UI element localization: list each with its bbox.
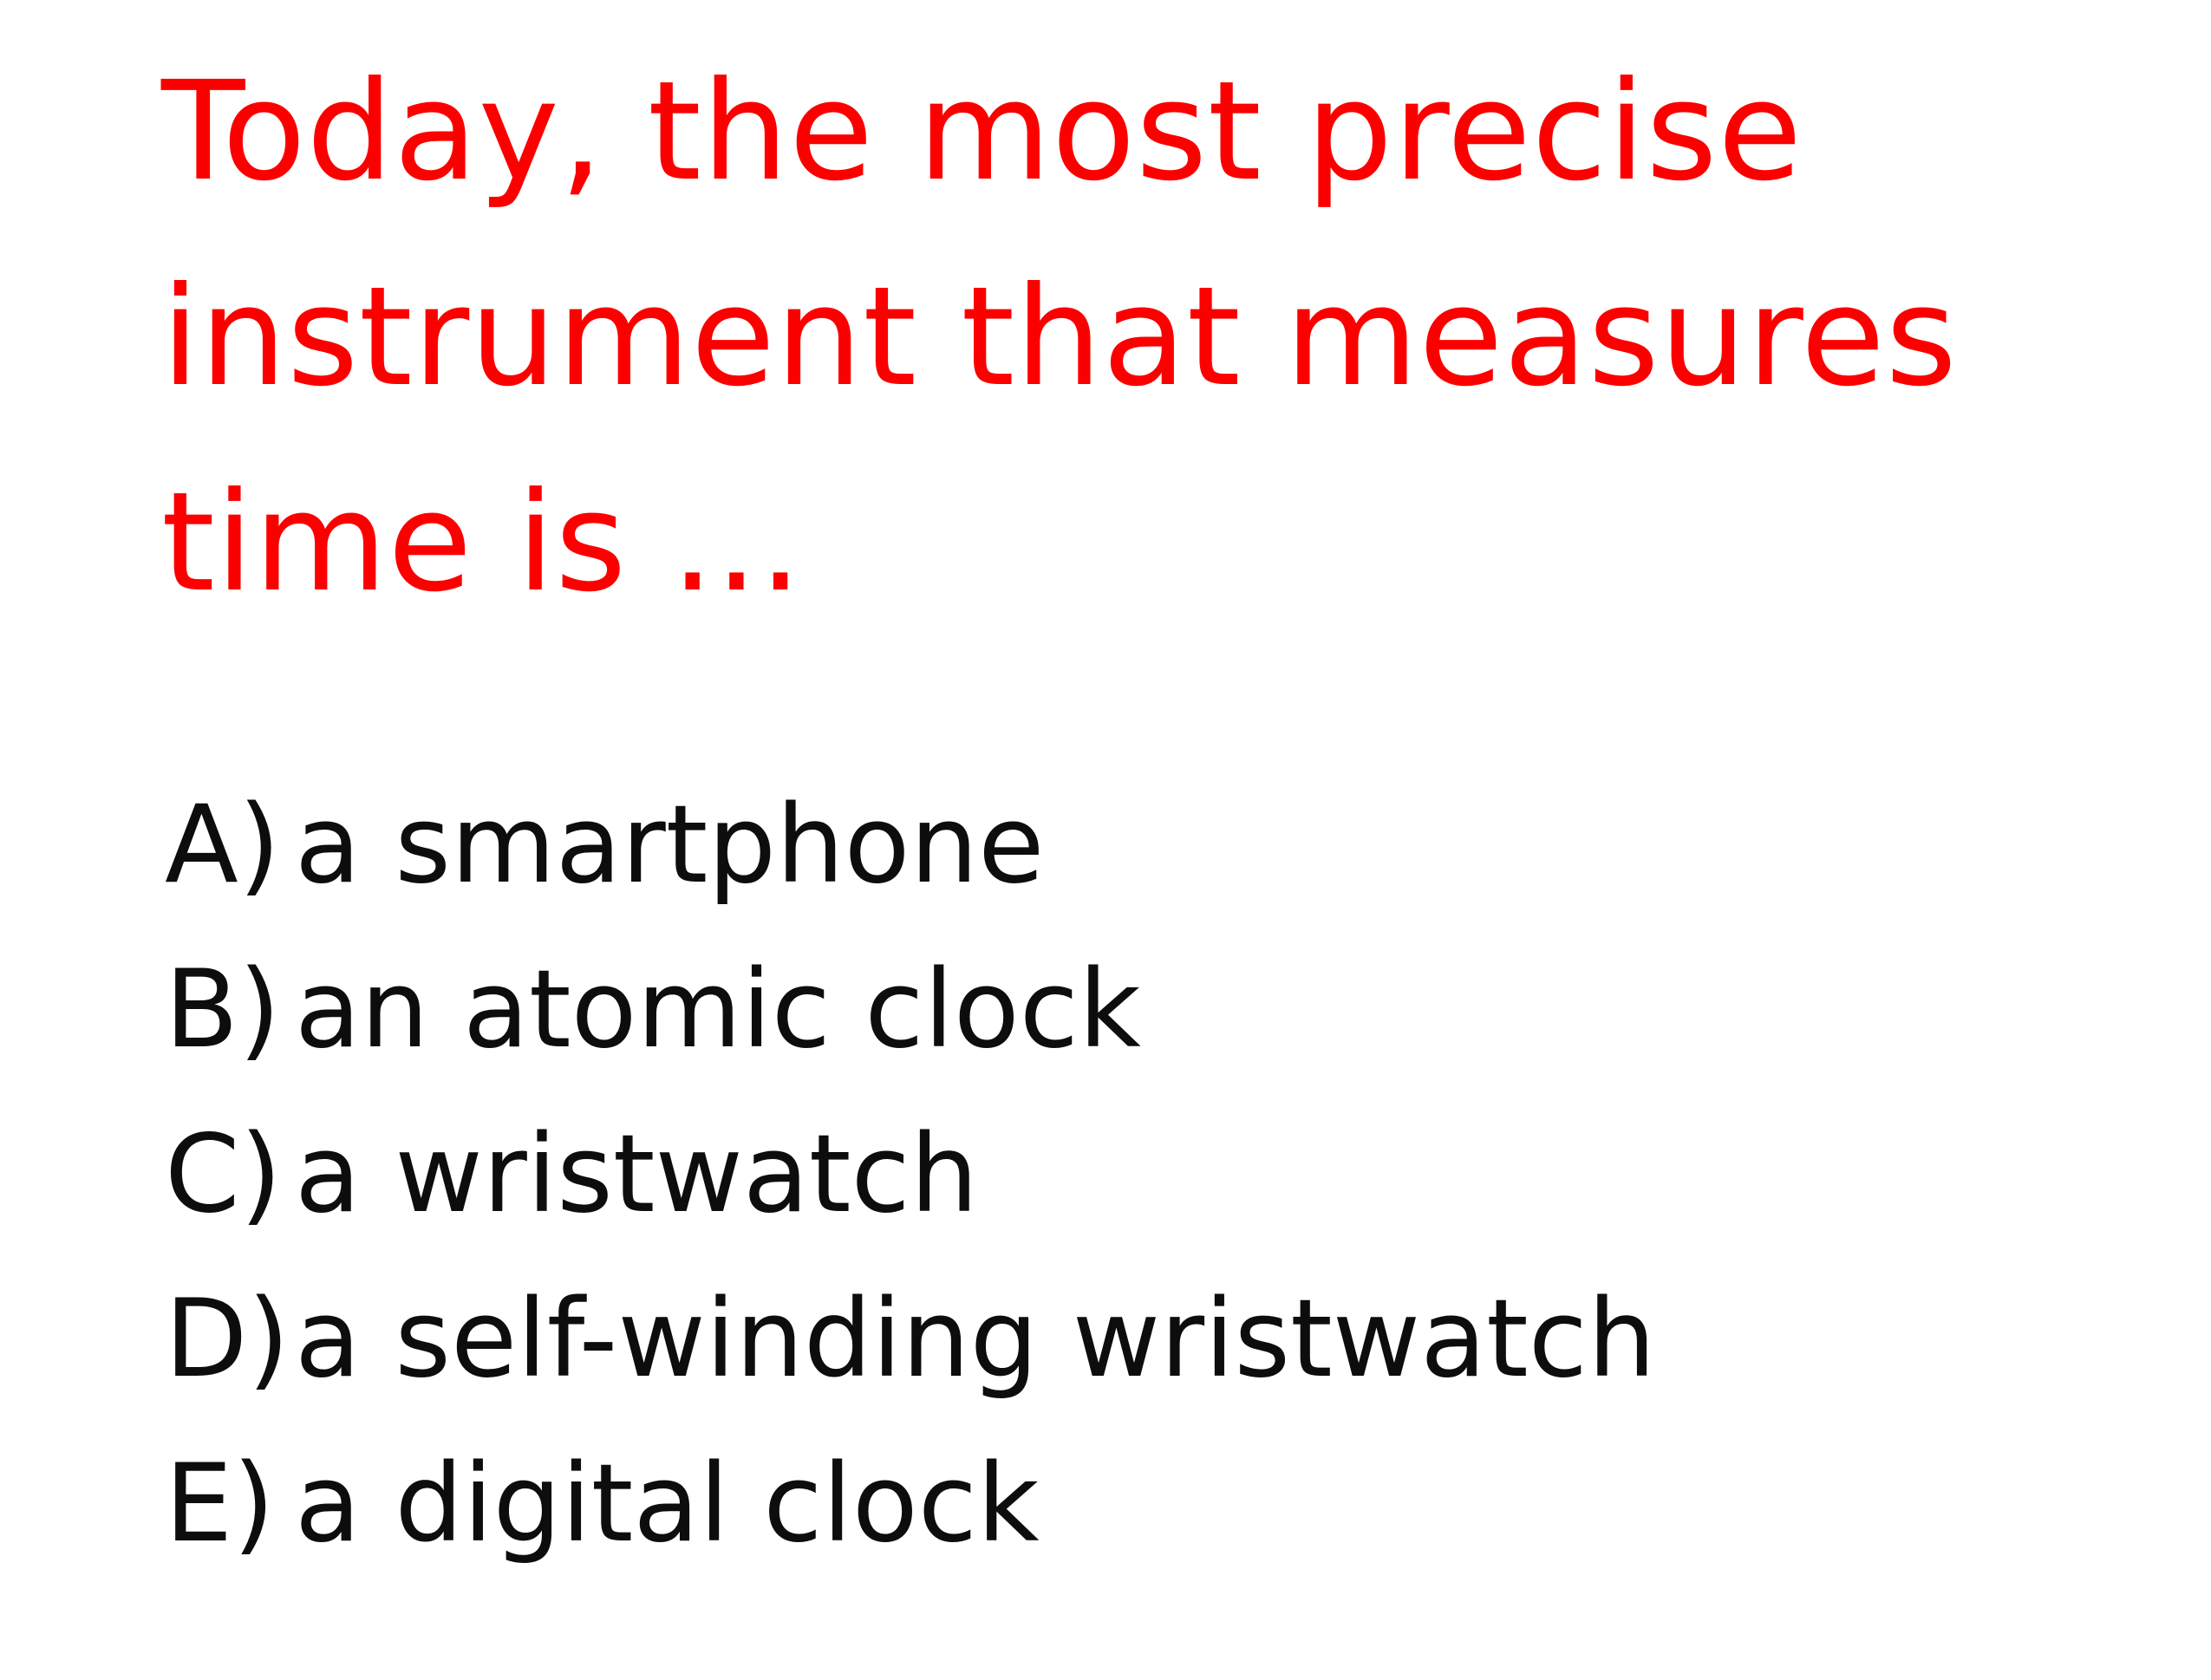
answer-option-c-label: a wristwatch	[295, 1092, 978, 1257]
answer-option-a-label: a smartphone	[295, 763, 1044, 928]
answer-option-c[interactable]: C) a wristwatch	[165, 1092, 2124, 1257]
question-line-3: time is ...	[161, 440, 2121, 646]
answer-option-d-key: D)	[165, 1257, 295, 1422]
answer-option-c-key: C)	[165, 1092, 295, 1257]
answer-option-a-key: A)	[165, 763, 295, 928]
answer-option-b-key: B)	[165, 928, 295, 1092]
answer-option-a[interactable]: A) a smartphone	[165, 763, 2124, 928]
answer-option-d[interactable]: D) a self-winding wristwatch	[165, 1257, 2124, 1422]
answer-option-b-label: an atomic clock	[295, 928, 1141, 1092]
question-line-2: instrument that measures	[161, 235, 2121, 440]
answer-options-list: A) a smartphone B) an atomic clock C) a …	[165, 763, 2124, 1586]
answer-option-e-key: E)	[165, 1422, 295, 1586]
answer-option-e[interactable]: E) a digital clock	[165, 1422, 2124, 1586]
question-line-1: Today, the most precise	[161, 29, 2121, 235]
quiz-slide: Today, the most precise instrument that …	[0, 0, 2211, 1680]
answer-option-d-label: a self-winding wristwatch	[295, 1257, 1656, 1422]
question-prompt: Today, the most precise instrument that …	[161, 29, 2121, 646]
answer-option-e-label: a digital clock	[295, 1422, 1040, 1586]
answer-option-b[interactable]: B) an atomic clock	[165, 928, 2124, 1092]
